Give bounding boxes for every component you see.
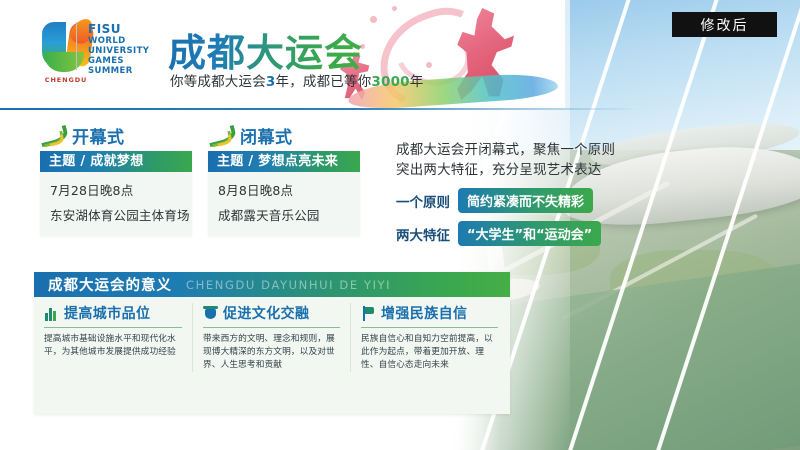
card-venue: 成都露天音乐公园 xyxy=(208,199,360,224)
card-header: 开幕式 xyxy=(40,124,192,146)
principles-block: 成都大运会开闭幕式，聚焦一个原则 突出两大特征，充分呈现艺术表达 一个原则 简约… xyxy=(396,140,626,246)
status-badge: 修改后 xyxy=(672,12,777,37)
column-title: 增强民族自信 xyxy=(381,303,467,323)
fisu-line-2: WORLD xyxy=(88,36,149,46)
principle-badge: 简约紧凑而不失精彩 xyxy=(458,188,593,213)
logo-divider xyxy=(76,22,77,70)
fisu-wordmark: FISU WORLD UNIVERSITY GAMES SUMMER xyxy=(88,22,149,76)
header-runner-graphic xyxy=(330,0,610,112)
card-theme-bar: 主题 / 梦想点亮未来 xyxy=(208,151,360,172)
card-theme-bar: 主题 / 成就梦想 xyxy=(40,151,192,172)
card-body: 主题 / 梦想点亮未来 8月8日晚8点 成都露天音乐公园 xyxy=(208,151,360,236)
column-text: 民族自信心和自知力空前提高，以此作为起点，带着更加开放、理性、自信心态走向未来 xyxy=(361,333,498,372)
column-text: 提高城市基础设施水平和现代化水平，为其他城市发展提供成功经验 xyxy=(44,333,182,359)
card-venue: 东安湖体育公园主体育场 xyxy=(40,199,192,224)
fisu-line-1: FISU xyxy=(88,22,149,36)
column-header: 增强民族自信 xyxy=(361,303,498,323)
card-title: 开幕式 xyxy=(72,123,125,148)
column-title: 促进文化交融 xyxy=(223,303,309,323)
subtitle-pre: 你等成都大运会 xyxy=(170,74,266,90)
flag-icon xyxy=(361,306,376,321)
page-title: 成都大运会 xyxy=(168,22,363,77)
u-mark-green xyxy=(44,52,84,72)
card-time: 7月28日晚8点 xyxy=(40,172,192,199)
column-title: 提高城市品位 xyxy=(64,303,150,323)
fisu-line-4: GAMES xyxy=(88,56,149,66)
column-text: 带来西方的文明、理念和规则，展现博大精深的东方文明，以及对世界、人生思考和贡献 xyxy=(203,333,340,372)
bar-chart-icon xyxy=(44,306,59,321)
card-title: 闭幕式 xyxy=(240,123,293,148)
meaning-columns: 提高城市品位 提高城市基础设施水平和现代化水平，为其他城市发展提供成功经验 促进… xyxy=(34,303,510,372)
meaning-column-1: 提高城市品位 提高城市基础设施水平和现代化水平，为其他城市发展提供成功经验 xyxy=(34,303,192,372)
card-closing-ceremony: 闭幕式 主题 / 梦想点亮未来 8月8日晚8点 成都露天音乐公园 xyxy=(208,124,360,236)
subtitle-number-3000: 3000 xyxy=(371,74,409,90)
dot-decoration xyxy=(370,16,377,23)
column-divider xyxy=(44,327,182,328)
slide-root: CHENGDU FISU WORLD UNIVERSITY GAMES SUMM… xyxy=(0,0,800,450)
meaning-heading: 成都大运会的意义 xyxy=(48,274,172,295)
column-header: 提高城市品位 xyxy=(44,303,182,323)
fisu-line-3: UNIVERSITY xyxy=(88,46,149,56)
subtitle-mid: 年，成都已等你 xyxy=(276,74,372,90)
principles-line-2: 突出两大特征，充分呈现艺术表达 xyxy=(396,160,626,180)
subtitle-number-3: 3 xyxy=(266,74,276,90)
card-time: 8月8日晚8点 xyxy=(208,172,360,199)
column-header: 促进文化交融 xyxy=(203,303,340,323)
meaning-panel-header: 成都大运会的意义 CHENGDU DAYUNHUI DE YIYI xyxy=(34,272,510,297)
header-divider xyxy=(0,108,640,110)
principles-line-1: 成都大运会开闭幕式，聚焦一个原则 xyxy=(396,140,626,160)
card-body: 主题 / 成就梦想 7月28日晚8点 东安湖体育公园主体育场 xyxy=(40,151,192,236)
principle-label: 两大特征 xyxy=(396,224,450,244)
meaning-column-2: 促进文化交融 带来西方的文明、理念和规则，展现博大精深的东方文明，以及对世界、人… xyxy=(192,303,350,372)
meaning-heading-pinyin: CHENGDU DAYUNHUI DE YIYI xyxy=(186,278,391,292)
principle-row-one: 一个原则 简约紧凑而不失精彩 xyxy=(396,188,626,213)
card-opening-ceremony: 开幕式 主题 / 成就梦想 7月28日晚8点 东安湖体育公园主体育场 xyxy=(40,124,192,236)
meaning-column-3: 增强民族自信 民族自信心和自知力空前提高，以此作为起点，带着更加开放、理性、自信… xyxy=(350,303,508,372)
principle-row-two: 两大特征 “大学生”和“运动会” xyxy=(396,221,626,246)
card-header: 闭幕式 xyxy=(208,124,360,146)
page-subtitle: 你等成都大运会3年，成都已等你3000年 xyxy=(170,70,423,90)
logo-city-label: CHENGDU xyxy=(34,76,98,84)
principle-label: 一个原则 xyxy=(396,191,450,211)
column-divider xyxy=(361,327,498,328)
u-mark-icon xyxy=(42,22,94,74)
swoosh-icon xyxy=(208,127,234,143)
dot-decoration xyxy=(426,62,432,68)
dot-decoration xyxy=(392,6,397,11)
column-divider xyxy=(203,327,340,328)
culture-vase-icon xyxy=(203,306,218,321)
fisu-line-5: SUMMER xyxy=(88,66,149,76)
principle-badge: “大学生”和“运动会” xyxy=(458,221,601,246)
subtitle-post: 年 xyxy=(410,74,424,90)
swoosh-icon xyxy=(40,127,66,143)
